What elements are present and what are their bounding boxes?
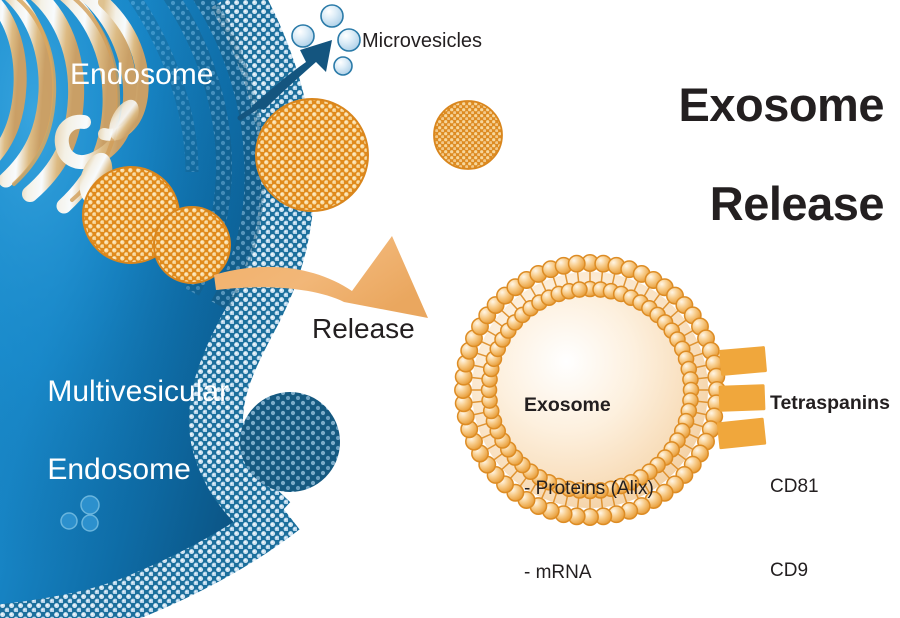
released-vesicle-large <box>256 99 368 211</box>
microvesicles-label: Microvesicles <box>362 30 482 54</box>
tetraspanins-callout-item: CD81 <box>770 473 890 501</box>
tetraspanin-blocks <box>717 346 767 449</box>
tetraspanins-callout-heading: Tetraspanins <box>770 389 890 417</box>
tetraspanin-block-icon <box>719 346 767 376</box>
title-line-1: Exosome <box>679 78 884 131</box>
exosome-callout-item: - Proteins (Alix) <box>524 475 654 503</box>
exosome-callout-item: - mRNA <box>524 559 654 587</box>
exosome-callout-heading: Exosome <box>524 391 654 419</box>
exosome-release-diagram: Exosome Release Endosome Multivesicular … <box>0 0 900 618</box>
free-exosome-small <box>434 101 502 169</box>
page-title: Exosome Release <box>628 30 884 279</box>
tetraspanin-block-icon <box>719 384 766 412</box>
tetraspanins-callout-item: CD9 <box>770 557 890 585</box>
tetraspanin-block-icon <box>717 418 767 450</box>
title-line-2: Release <box>710 177 884 230</box>
multivesicular-endosome-label: Multivesicular Endosome <box>14 333 229 528</box>
mvb-label-line-2: Endosome <box>47 453 190 486</box>
endosome-label: Endosome <box>70 57 213 92</box>
release-label: Release <box>312 312 415 345</box>
tetraspanins-callout: Tetraspanins CD81 CD9 CD63 <box>770 334 890 618</box>
mvb-label-line-1: Multivesicular <box>47 375 229 408</box>
exosome-callout: Exosome - Proteins (Alix) - mRNA - RNA -… <box>524 336 654 618</box>
